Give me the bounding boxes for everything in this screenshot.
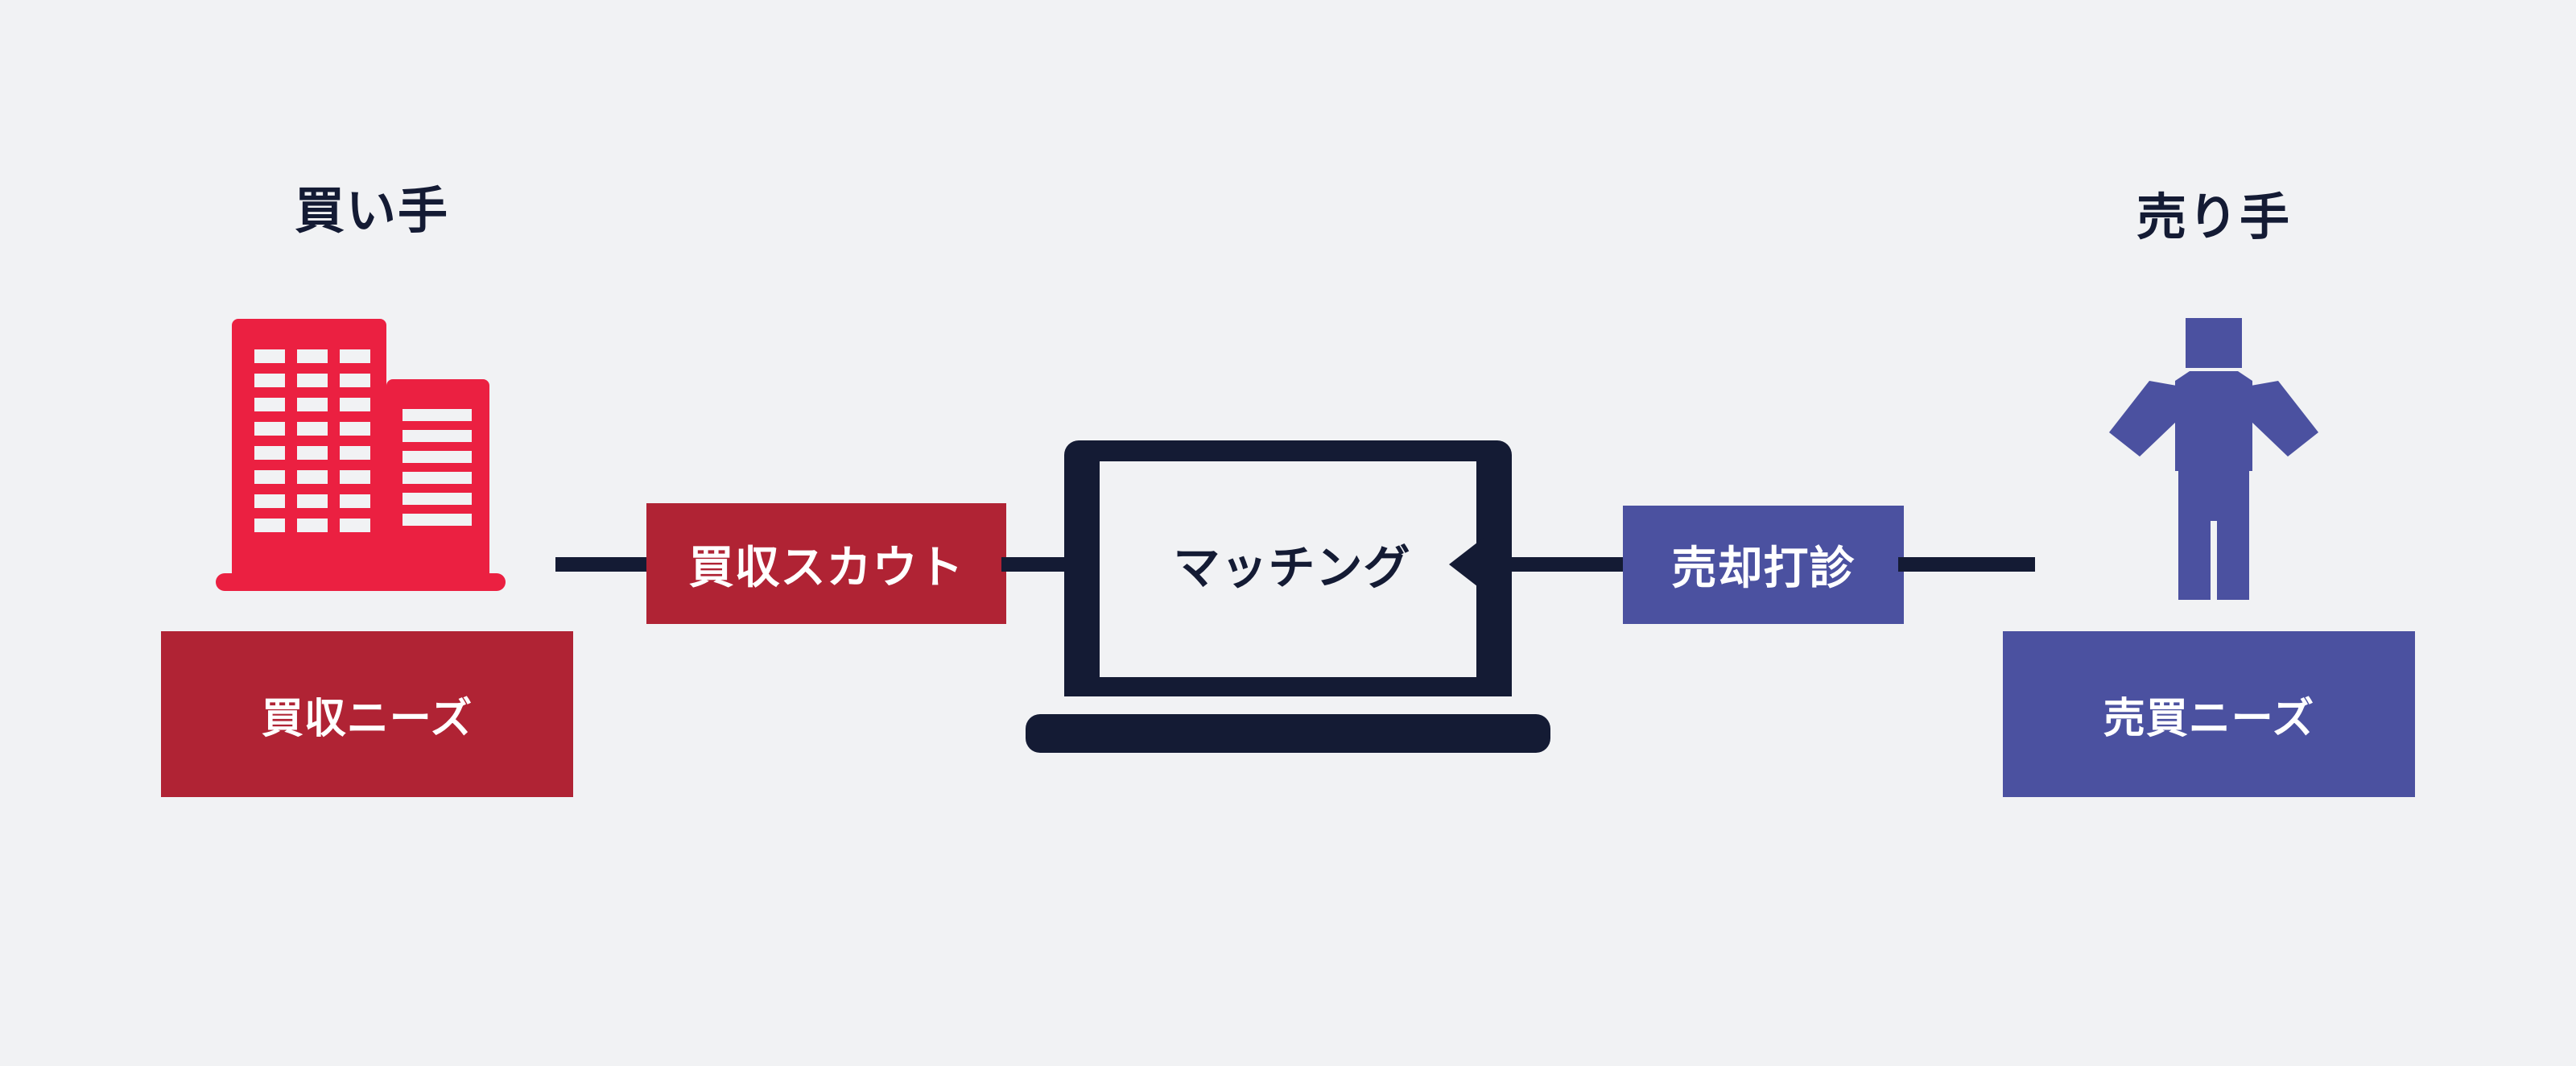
seller-action-label: 売却打診 [1672,532,1856,597]
connector-line-sounding-to-seller [1898,557,2035,572]
buyer-action-chip: 買収スカウト [646,503,1006,624]
buyer-title: 買い手 [211,187,533,237]
connector-line-match-to-sounding [1499,557,1628,572]
arrow-left-icon [1449,526,1499,603]
person-icon [2093,318,2334,600]
seller-title: 売り手 [2053,193,2375,243]
diagram-canvas: 買い手 [0,0,2576,1066]
match-label-text: マッチング [1173,530,1410,597]
connector-line-buyer-to-scout [555,557,652,572]
buyer-action-label: 買収スカウト [689,531,964,597]
buyer-needs-box: 買収ニーズ [161,631,573,797]
seller-needs-box: 売買ニーズ [2003,631,2415,797]
seller-action-chip: 売却打診 [1623,506,1904,624]
buyer-needs-label: 買収ニーズ [262,684,473,745]
office-building-icon [216,319,506,599]
seller-needs-label: 売買ニーズ [2103,684,2314,745]
match-label: マッチング [1139,531,1445,596]
